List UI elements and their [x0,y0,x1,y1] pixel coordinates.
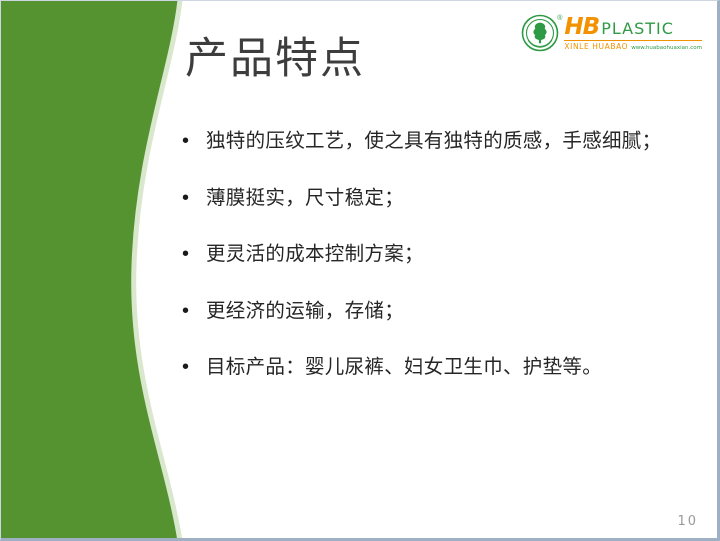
list-item: • 目标产品：婴儿尿裤、妇女卫生巾、护垫等。 [178,352,698,384]
green-band-fill [0,0,180,541]
logo-company-name: XINLE HUABAO [564,42,628,51]
feature-bullet-list: • 独特的压纹工艺，使之具有独特的质感，手感细腻； • 薄膜挺实，尺寸稳定； •… [178,126,698,409]
logo-website-url: www.huabaohuaxian.com [631,44,702,53]
registered-trademark-icon: ® [557,15,562,22]
page-title: 产品特点 [185,34,365,85]
bullet-point-icon: • [178,183,206,213]
green-curve-decoration [0,0,200,541]
list-item-label: 独特的压纹工艺，使之具有独特的质感，手感细腻； [206,126,698,156]
bullet-point-icon: • [178,239,206,269]
page-number: 10 [677,514,698,529]
company-logo: ® HB PLASTIC XINLE HUABAO www.huabaohuax… [521,14,702,56]
logo-wordmark: HB PLASTIC XINLE HUABAO www.huabaohuaxia… [564,14,702,53]
list-item: • 薄膜挺实，尺寸稳定； [178,183,698,215]
logo-brand-word: PLASTIC [601,19,674,39]
list-item-label: 薄膜挺实，尺寸稳定； [206,183,698,213]
list-item: • 更经济的运输，存储； [178,296,698,328]
green-tree-circle-icon: ® [521,14,559,52]
presentation-slide: 产品特点 • 独特的压纹工艺，使之具有独特的质感，手感细腻； • 薄膜挺实，尺寸… [0,0,720,541]
logo-main-line: HB PLASTIC [564,16,673,39]
logo-brand-initials: HB [564,16,599,39]
list-item-label: 目标产品：婴儿尿裤、妇女卫生巾、护垫等。 [206,352,698,382]
list-item: • 独特的压纹工艺，使之具有独特的质感，手感细腻； [178,126,698,158]
bullet-point-icon: • [178,352,206,382]
list-item-label: 更灵活的成本控制方案； [206,239,698,269]
list-item-label: 更经济的运输，存储； [206,296,698,326]
list-item: • 更灵活的成本控制方案； [178,239,698,271]
bullet-point-icon: • [178,126,206,156]
logo-sub-line: XINLE HUABAO www.huabaohuaxian.com [564,40,702,53]
bullet-point-icon: • [178,296,206,326]
